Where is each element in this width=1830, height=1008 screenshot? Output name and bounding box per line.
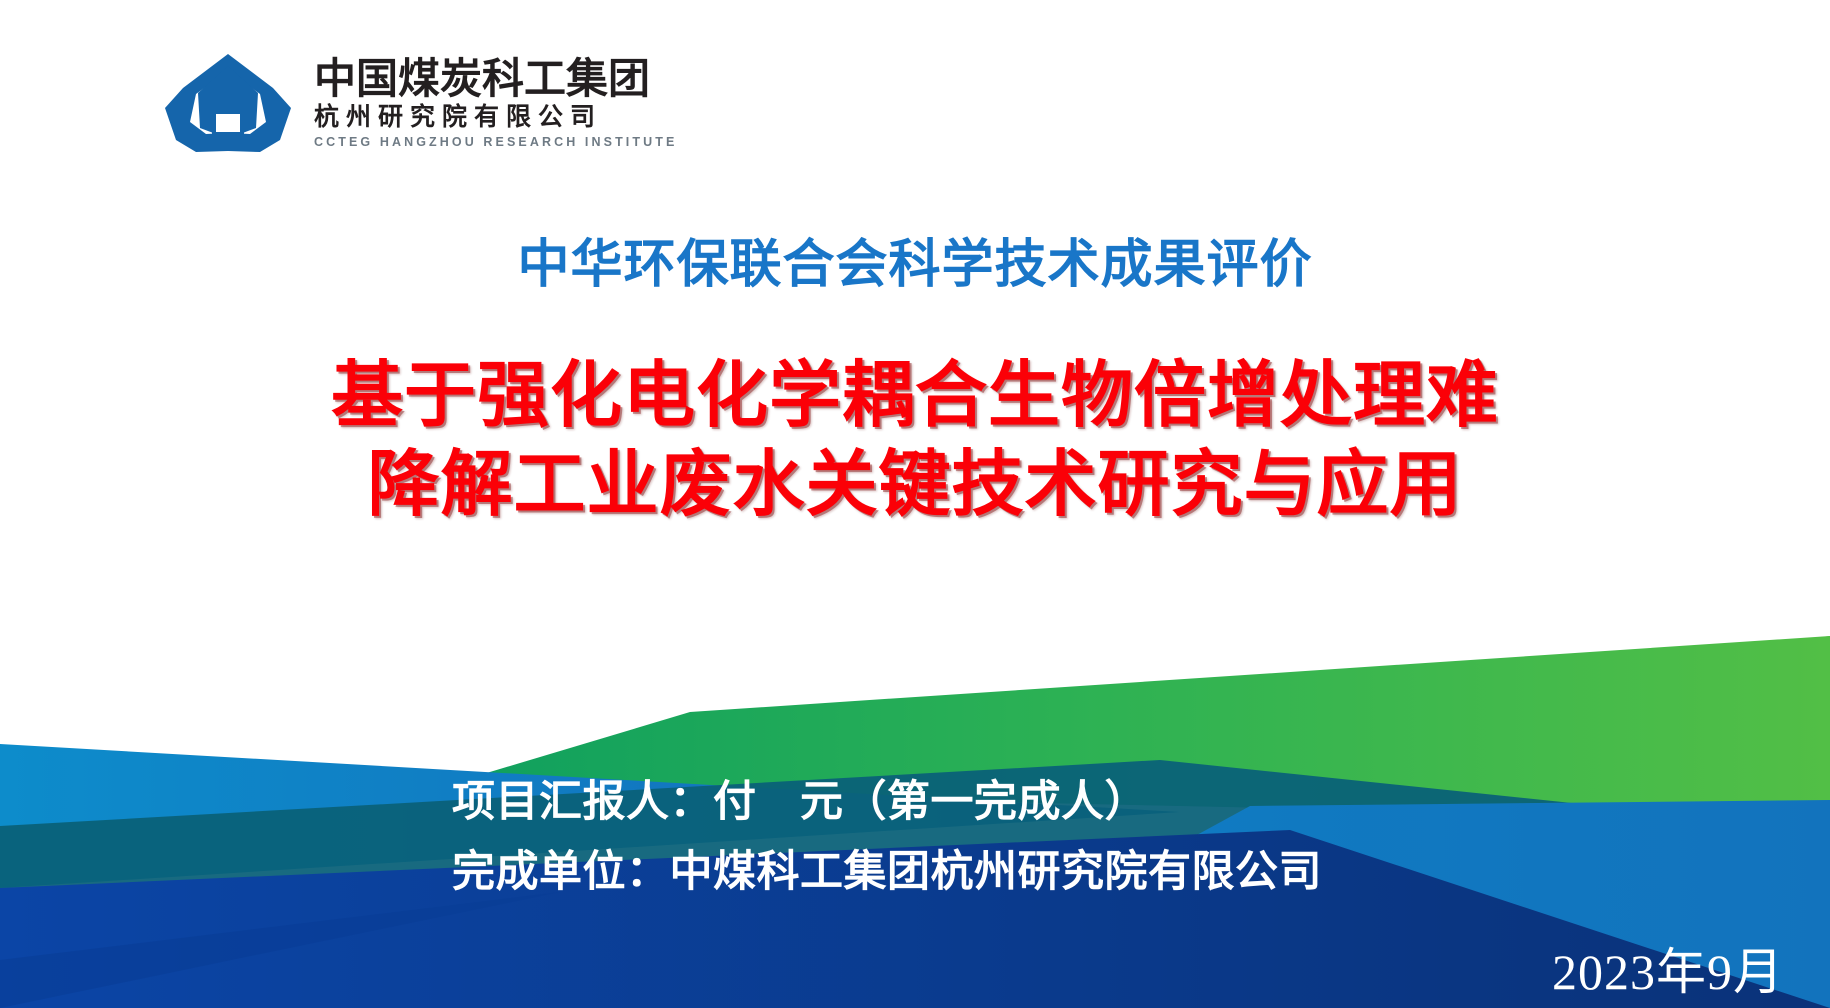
evaluation-heading: 中华环保联合会科学技术成果评价: [0, 222, 1830, 297]
logo-wordmark: 中国煤炭科工集团 杭州研究院有限公司 CCTEG HANGZHOU RESEAR…: [314, 54, 677, 149]
page-title-line-1: 基于强化电化学耦合生物倍增处理难: [0, 352, 1830, 441]
logo-company-name: 中国煤炭科工集团: [314, 58, 677, 101]
slide-date: 2023年9月: [1552, 932, 1784, 1004]
page-title: 基于强化电化学耦合生物倍增处理难 降解工业废水关键技术研究与应用: [0, 352, 1830, 531]
presenter-info: 项目汇报人：付 元（第一完成人） 完成单位：中煤科工集团杭州研究院有限公司: [452, 768, 1322, 907]
logo-institute-name-english: CCTEG HANGZHOU RESEARCH INSTITUTE: [314, 136, 677, 150]
presenter-organization-line: 完成单位：中煤科工集团杭州研究院有限公司: [452, 838, 1322, 908]
page-title-line-2: 降解工业废水关键技术研究与应用: [0, 441, 1830, 530]
corporate-logo: 中国煤炭科工集团 杭州研究院有限公司 CCTEG HANGZHOU RESEAR…: [160, 48, 677, 156]
logo-institute-name: 杭州研究院有限公司: [314, 103, 677, 133]
title-slide: 中国煤炭科工集团 杭州研究院有限公司 CCTEG HANGZHOU RESEAR…: [0, 0, 1830, 1008]
presenter-reporter-line: 项目汇报人：付 元（第一完成人）: [452, 768, 1322, 838]
ccteg-pentagon-emblem-icon: [160, 48, 296, 156]
